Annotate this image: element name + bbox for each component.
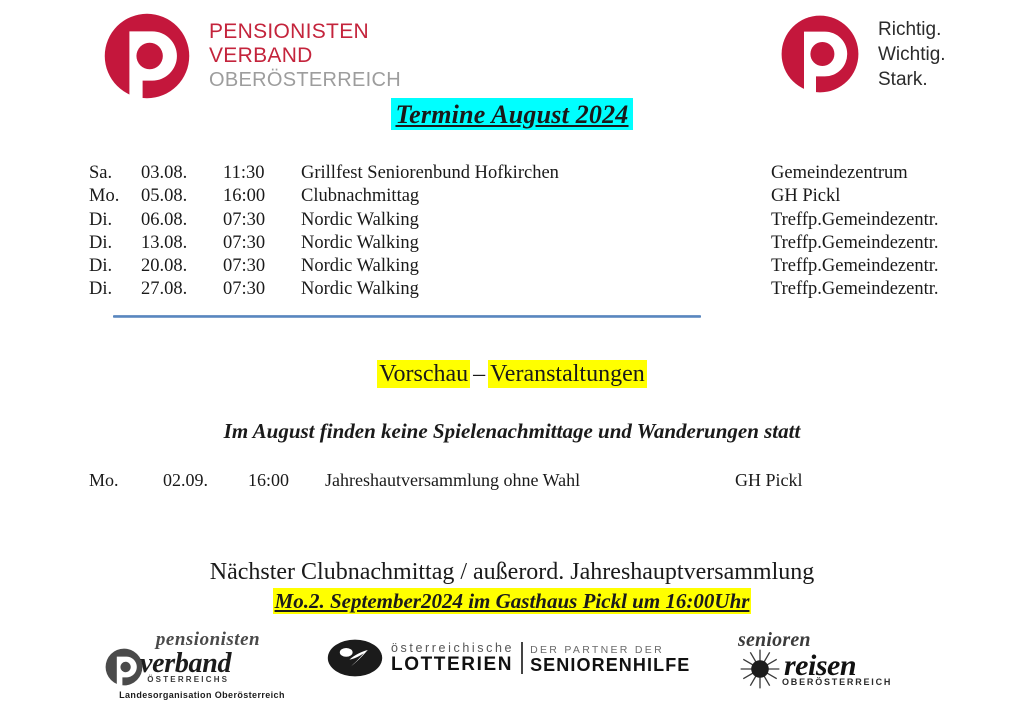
bottom-announcement: Nächster Clubnachmittag / außerord. Jahr… xyxy=(0,558,1024,614)
event-time: 07:30 xyxy=(223,210,301,231)
footer-logos: pensionisten verband ÖSTERREICHS Landeso… xyxy=(0,626,1024,706)
brand-slogan: Richtig. Wichtig. Stark. xyxy=(878,17,946,92)
pensionistenverband-p-mark-icon xyxy=(103,12,191,100)
slogan-line-2: Wichtig. xyxy=(878,42,946,67)
table-row: Di.06.08.07:30Nordic WalkingTreffp.Gemei… xyxy=(0,210,1024,233)
september-event-place: GH Pickl xyxy=(735,470,803,491)
event-title: Nordic Walking xyxy=(301,233,771,254)
lotterien-wordmark: österreichische LOTTERIEN DER PARTNER DE… xyxy=(391,642,690,675)
table-row: Di.13.08.07:30Nordic WalkingTreffp.Gemei… xyxy=(0,233,1024,256)
page-title: Termine August 2024 xyxy=(0,100,1024,130)
footer-pv-main-block: verband ÖSTERREICHS xyxy=(144,650,231,684)
pensionistenverband-p-mark-icon xyxy=(104,647,144,687)
lotterien-separator xyxy=(521,642,523,675)
event-title: Nordic Walking xyxy=(301,279,771,300)
announcement-line-2-wrapper: Mo.2. September2024 im Gasthaus Pickl um… xyxy=(0,589,1024,614)
footer-pv-middle: verband ÖSTERREICHS xyxy=(104,647,300,687)
event-date: 27.08. xyxy=(141,279,223,300)
september-event-day: Mo. xyxy=(0,470,163,491)
event-title: Nordic Walking xyxy=(301,210,771,231)
lotterien-text-rows: österreichische LOTTERIEN DER PARTNER DE… xyxy=(391,642,690,675)
event-date: 13.08. xyxy=(141,233,223,254)
event-place: GH Pickl xyxy=(771,186,840,207)
sunflower-icon xyxy=(738,647,782,691)
seniorenreisen-middle: reisen OBERÖSTERREICH xyxy=(738,647,938,691)
slogan-line-3: Stark. xyxy=(878,67,946,92)
brand-line-2: VERBAND xyxy=(209,44,401,68)
event-time: 16:00 xyxy=(223,186,301,207)
document-page: PENSIONISTEN VERBAND OBERÖSTERREICH Rich… xyxy=(0,0,1024,726)
vorschau-word: Vorschau xyxy=(377,360,470,388)
footer-logo-lotterien: österreichische LOTTERIEN DER PARTNER DE… xyxy=(327,638,690,678)
footer-pv-bottom-text: Landesorganisation Oberösterreich xyxy=(104,690,300,700)
footer-pv-main-text: verband xyxy=(140,650,231,678)
pensionistenverband-p-mark-icon xyxy=(780,14,860,94)
table-row: Di.27.08.07:30Nordic WalkingTreffp.Gemei… xyxy=(0,279,1024,302)
document-header: PENSIONISTEN VERBAND OBERÖSTERREICH Rich… xyxy=(0,0,1024,112)
event-date: 05.08. xyxy=(141,186,223,207)
seniorenreisen-sub-text: OBERÖSTERREICH xyxy=(782,677,892,687)
section-divider xyxy=(113,315,701,318)
lotterien-small-text: österreichische xyxy=(391,642,514,655)
lotterien-big-text: LOTTERIEN xyxy=(391,655,514,674)
event-time: 11:30 xyxy=(223,163,301,184)
lotterien-left-block: österreichische LOTTERIEN xyxy=(391,642,514,675)
announcement-line-1: Nächster Clubnachmittag / außerord. Jahr… xyxy=(0,558,1024,587)
august-notice: Im August finden keine Spielenachmittage… xyxy=(0,419,1024,444)
table-row: Mo.05.08.16:00ClubnachmittagGH Pickl xyxy=(0,186,1024,209)
pensionistenverband-logo-right: Richtig. Wichtig. Stark. xyxy=(780,14,946,94)
event-place: Treffp.Gemeindezentr. xyxy=(771,210,939,231)
event-date: 03.08. xyxy=(141,163,223,184)
event-time: 07:30 xyxy=(223,279,301,300)
event-title: Nordic Walking xyxy=(301,256,771,277)
pensionistenverband-wordmark: PENSIONISTEN VERBAND OBERÖSTERREICH xyxy=(209,20,401,92)
event-date: 20.08. xyxy=(141,256,223,277)
event-date: 06.08. xyxy=(141,210,223,231)
page-title-text: Termine August 2024 xyxy=(391,98,632,130)
slogan-line-1: Richtig. xyxy=(878,17,946,42)
event-time: 07:30 xyxy=(223,233,301,254)
event-day: Di. xyxy=(0,279,141,300)
lotterien-mark-icon xyxy=(327,638,383,678)
event-place: Treffp.Gemeindezentr. xyxy=(771,279,939,300)
vorschau-dash: – xyxy=(470,361,488,387)
footer-logo-seniorenreisen: senioren reisen OBERÖSTERREICH xyxy=(738,630,938,691)
seniorenreisen-main-block: reisen OBERÖSTERREICH xyxy=(782,651,898,687)
footer-logo-pensionistenverband: pensionisten verband ÖSTERREICHS Landeso… xyxy=(104,630,300,700)
table-row: Sa.03.08.11:30Grillfest Seniorenbund Hof… xyxy=(0,163,1024,186)
event-place: Treffp.Gemeindezentr. xyxy=(771,256,939,277)
event-day: Di. xyxy=(0,210,141,231)
lotterien-right-block: DER PARTNER DER SENIORENHILFE xyxy=(530,645,690,674)
vorschau-heading: Vorschau–Veranstaltungen xyxy=(0,361,1024,388)
event-title: Grillfest Seniorenbund Hofkirchen xyxy=(301,163,771,184)
event-time: 07:30 xyxy=(223,256,301,277)
september-event-date: 02.09. xyxy=(163,470,248,491)
event-title: Clubnachmittag xyxy=(301,186,771,207)
pensionistenverband-logo-left: PENSIONISTEN VERBAND OBERÖSTERREICH xyxy=(103,12,401,100)
events-table: Sa.03.08.11:30Grillfest Seniorenbund Hof… xyxy=(0,163,1024,303)
footer-pv-sub-text: ÖSTERREICHS xyxy=(144,675,229,684)
september-event-title: Jahreshautversammlung ohne Wahl xyxy=(325,470,735,491)
event-day: Di. xyxy=(0,233,141,254)
event-day: Mo. xyxy=(0,186,141,207)
event-place: Gemeindezentrum xyxy=(771,163,908,184)
seniorenhilfe-big-text: SENIORENHILFE xyxy=(530,656,690,674)
september-event-row: Mo. 02.09. 16:00 Jahreshautversammlung o… xyxy=(0,470,1024,491)
brand-line-1: PENSIONISTEN xyxy=(209,20,401,44)
september-event-time: 16:00 xyxy=(248,470,325,491)
table-row: Di.20.08.07:30Nordic WalkingTreffp.Gemei… xyxy=(0,256,1024,279)
event-place: Treffp.Gemeindezentr. xyxy=(771,233,939,254)
event-day: Di. xyxy=(0,256,141,277)
brand-line-3: OBERÖSTERREICH xyxy=(209,69,401,92)
veranstaltungen-word: Veranstaltungen xyxy=(488,360,647,388)
event-day: Sa. xyxy=(0,163,141,184)
announcement-line-2: Mo.2. September2024 im Gasthaus Pickl um… xyxy=(273,588,752,614)
